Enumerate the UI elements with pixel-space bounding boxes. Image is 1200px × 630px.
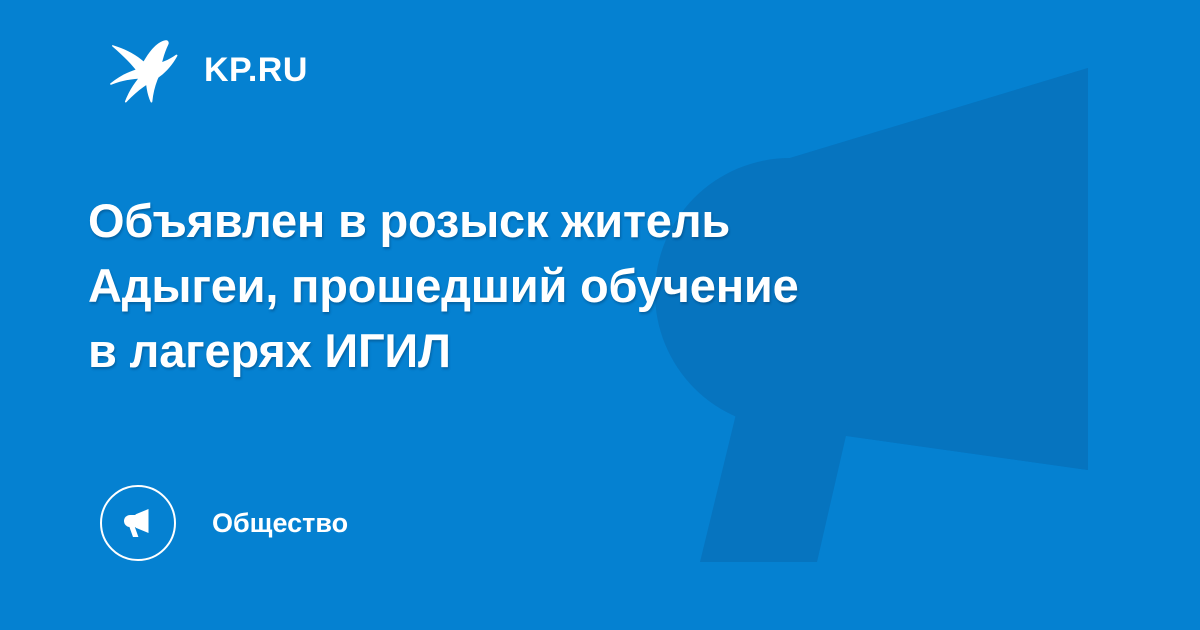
megaphone-icon xyxy=(118,503,158,543)
headline-line-2: Адыгеи, прошедший обучение xyxy=(88,253,988,318)
swallow-bird-icon xyxy=(108,37,180,103)
category-badge[interactable]: Общество xyxy=(100,485,348,561)
headline: Объявлен в розыск житель Адыгеи, прошедш… xyxy=(88,188,988,383)
brand-wordmark: KP.RU xyxy=(204,53,308,87)
share-card: KP.RU Объявлен в розыск житель Адыгеи, п… xyxy=(0,0,1200,630)
category-label: Общество xyxy=(212,510,348,537)
headline-line-3: в лагерях ИГИЛ xyxy=(88,318,988,383)
category-icon-circle xyxy=(100,485,176,561)
headline-line-1: Объявлен в розыск житель xyxy=(88,188,988,253)
brand-logo[interactable]: KP.RU xyxy=(108,38,308,102)
